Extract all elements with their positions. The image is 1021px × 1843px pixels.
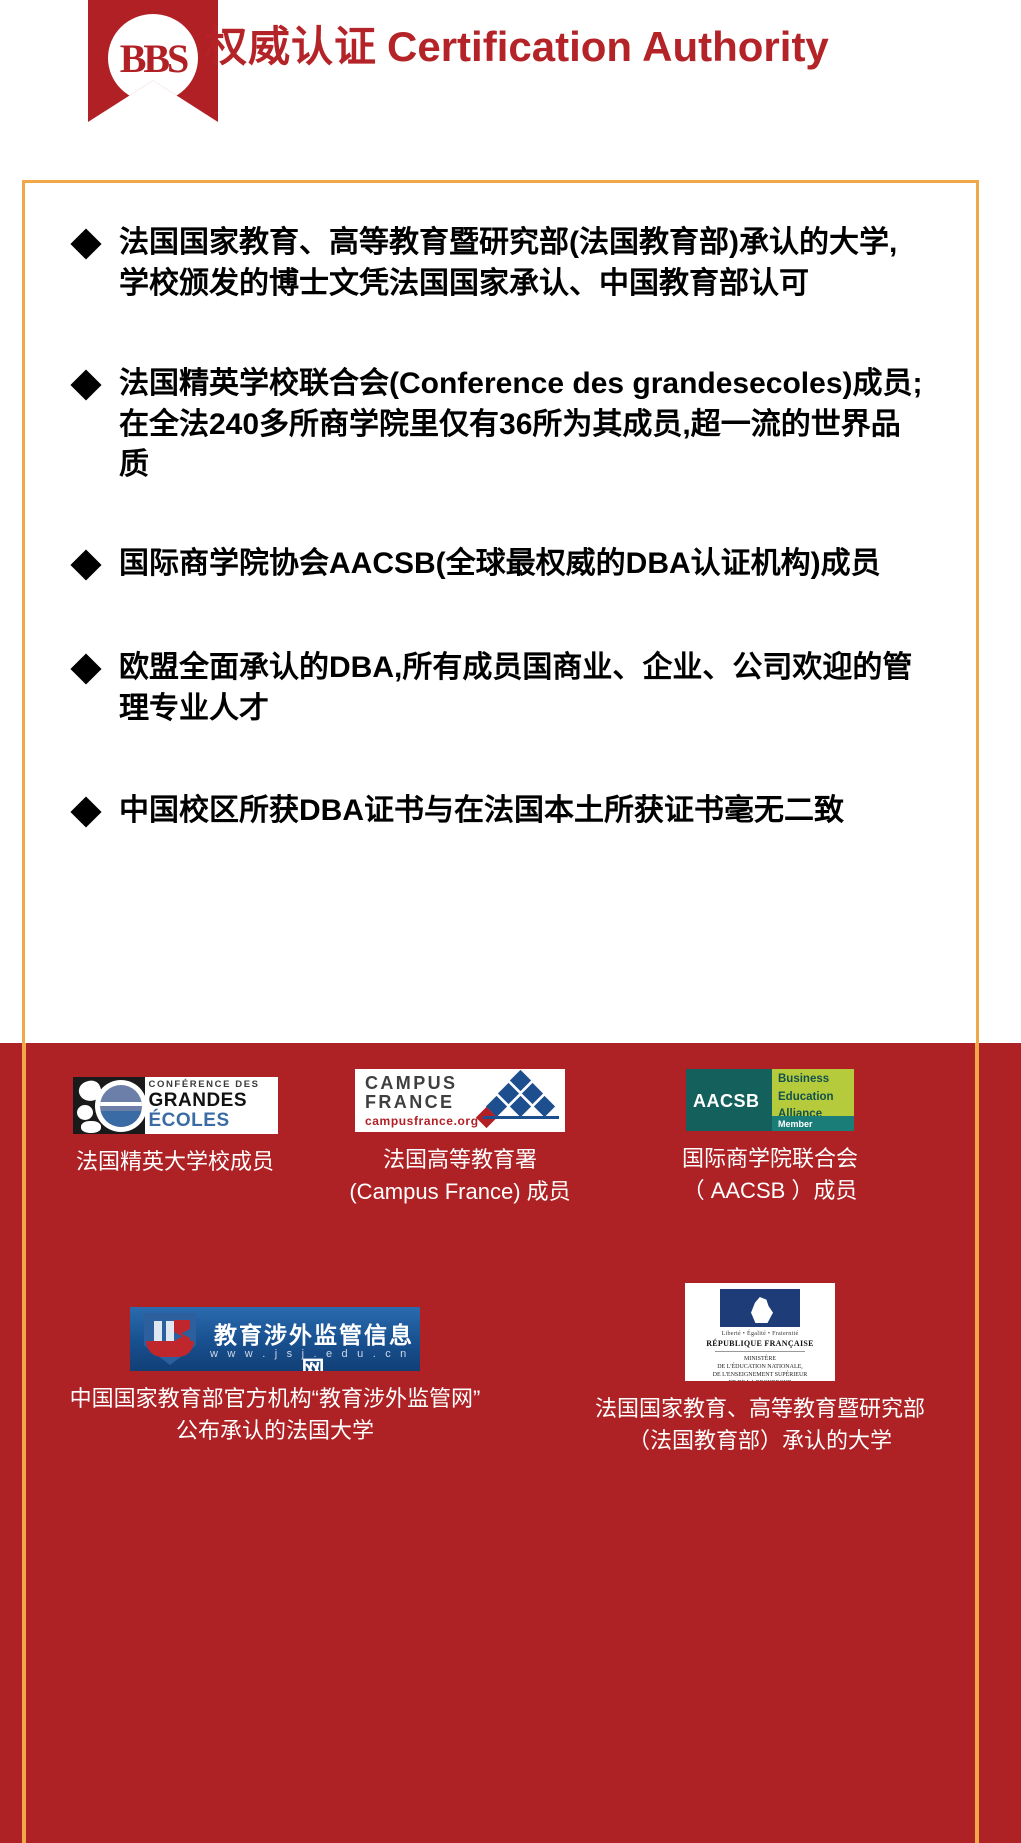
- cge-blob-shape: [81, 1121, 101, 1133]
- diamond-bullet-icon: [70, 549, 101, 580]
- list-item: 法国国家教育、高等教育暨研究部(法国教育部)承认的大学, 学校颁发的博士文凭法国…: [75, 223, 930, 304]
- jsj-shield-swoosh: [146, 1341, 194, 1357]
- bullet-text: 法国国家教育、高等教育暨研究部(法国教育部)承认的大学, 学校颁发的博士文凭法国…: [119, 223, 930, 304]
- accreditation-item-ministry: Liberté • Égalité • Fraternité RÉPUBLIQU…: [530, 1283, 990, 1457]
- aacsb-right-panel: Business Education Alliance: [772, 1069, 854, 1116]
- cge-line-3: ÉCOLES: [149, 1111, 276, 1131]
- ministry-name-line-2: DE L'ÉDUCATION NATIONALE,: [685, 1363, 835, 1371]
- cge-line-2: GRANDES: [149, 1091, 276, 1111]
- diamond-bullet-icon: [70, 653, 101, 684]
- ministry-divider: [715, 1351, 805, 1352]
- cge-blob-shape: [77, 1105, 93, 1120]
- cge-e-inner: [100, 1085, 142, 1127]
- accreditation-caption: 法国国家教育、高等教育暨研究部 （法国教育部）承认的大学: [530, 1393, 990, 1457]
- bullet-text: 欧盟全面承认的DBA,所有成员国商业、企业、公司欢迎的管理专业人才: [119, 648, 930, 729]
- cge-e-bottom: [100, 1111, 142, 1127]
- accreditation-item-campus-france: CAMPUS FRANCE campusfrance.org 法国高等教育署 (…: [320, 1069, 600, 1208]
- cge-logo-text: CONFÉRENCE DES GRANDES ÉCOLES: [149, 1079, 276, 1131]
- bullet-text: 法国精英学校联合会(Conference des grandesecoles)成…: [119, 364, 930, 486]
- page-title-en: Certification Authority: [387, 23, 829, 70]
- jsj-logo-text: 教育涉外监管信息网: [208, 1316, 420, 1371]
- accreditation-item-aacsb: AACSB Business Education Alliance Member…: [620, 1069, 920, 1207]
- aacsb-left-panel: AACSB: [686, 1069, 772, 1131]
- accreditation-caption: 法国精英大学校成员: [40, 1146, 310, 1178]
- aacsb-line-education: Education: [772, 1087, 854, 1105]
- aacsb-member-label: Member: [772, 1116, 854, 1129]
- campus-france-logo: CAMPUS FRANCE campusfrance.org: [355, 1069, 565, 1132]
- bullet-text: 国际商学院协会AACSB(全球最权威的DBA认证机构)成员: [119, 544, 930, 585]
- aacsb-logo: AACSB Business Education Alliance Member: [686, 1069, 854, 1131]
- list-item: 中国校区所获DBA证书与在法国本土所获证书毫无二致: [75, 791, 930, 832]
- bbs-ribbon-logo: BBS: [88, 0, 218, 122]
- ministry-republic-label: RÉPUBLIQUE FRANÇAISE: [685, 1339, 835, 1348]
- accreditation-caption: 国际商学院联合会 （ AACSB ）成员: [620, 1143, 920, 1207]
- bullet-text: 中国校区所获DBA证书与在法国本土所获证书毫无二致: [119, 791, 930, 832]
- accreditation-caption: 中国国家教育部官方机构“教育涉外监管网” 公布承认的法国大学: [10, 1383, 540, 1447]
- page-header: BBS 权威认证Certification Authority: [0, 0, 1021, 160]
- aacsb-member-band: Member: [772, 1116, 854, 1131]
- ministry-name: MINISTÈRE DE L'ÉDUCATION NATIONALE, DE L…: [685, 1355, 835, 1381]
- diamond-bullet-icon: [70, 796, 101, 827]
- list-item: 国际商学院协会AACSB(全球最权威的DBA认证机构)成员: [75, 544, 930, 585]
- campus-france-url: campusfrance.org: [365, 1115, 479, 1128]
- accreditation-row-2: 教育涉外监管信息网 w w w . j s j . e d u . c n 中国…: [0, 1283, 1021, 1513]
- ministry-name-line-3: DE L'ENSEIGNEMENT SUPÉRIEUR: [685, 1371, 835, 1379]
- diamond-bullet-icon: [70, 228, 101, 259]
- accreditation-item-jsj: 教育涉外监管信息网 w w w . j s j . e d u . c n 中国…: [10, 1307, 540, 1447]
- list-item: 欧盟全面承认的DBA,所有成员国商业、企业、公司欢迎的管理专业人才: [75, 648, 930, 729]
- campus-france-baseline: [483, 1116, 559, 1119]
- ministry-motto: Liberté • Égalité • Fraternité: [685, 1331, 835, 1337]
- aacsb-wordmark: AACSB: [693, 1091, 760, 1112]
- aacsb-line-business: Business: [772, 1069, 854, 1087]
- ministry-name-line-1: MINISTÈRE: [685, 1355, 835, 1363]
- accreditation-item-cge: CONFÉRENCE DES GRANDES ÉCOLES 法国精英大学校成员: [40, 1077, 310, 1178]
- accreditation-caption: 法国高等教育署 (Campus France) 成员: [320, 1144, 600, 1208]
- page-title: 权威认证Certification Authority: [205, 24, 829, 70]
- jsj-logo-url: w w w . j s j . e d u . c n: [210, 1348, 410, 1360]
- bbs-logo-oval: BBS: [108, 14, 198, 102]
- page-title-cn: 权威认证: [205, 23, 377, 70]
- french-ministry-logo: Liberté • Égalité • Fraternité RÉPUBLIQU…: [685, 1283, 835, 1381]
- campus-france-line-1: CAMPUS: [365, 1074, 457, 1093]
- bullet-list: 法国国家教育、高等教育暨研究部(法国教育部)承认的大学, 学校颁发的博士文凭法国…: [75, 223, 930, 832]
- campus-france-line-2: FRANCE: [365, 1093, 454, 1112]
- bbs-logo-text: BBS: [108, 14, 198, 102]
- ministry-name-line-4: ET DE LA RECHERCHE: [685, 1379, 835, 1381]
- cge-e-band: [100, 1102, 142, 1106]
- diamond-bullet-icon: [70, 369, 101, 400]
- accreditation-row-1: CONFÉRENCE DES GRANDES ÉCOLES 法国精英大学校成员 …: [0, 1077, 1021, 1292]
- conference-des-grandes-ecoles-logo: CONFÉRENCE DES GRANDES ÉCOLES: [73, 1077, 278, 1134]
- jsj-edu-cn-logo: 教育涉外监管信息网 w w w . j s j . e d u . c n: [130, 1307, 420, 1371]
- list-item: 法国精英学校联合会(Conference des grandesecoles)成…: [75, 364, 930, 486]
- accreditation-logo-panel: CONFÉRENCE DES GRANDES ÉCOLES 法国精英大学校成员 …: [0, 1043, 1021, 1843]
